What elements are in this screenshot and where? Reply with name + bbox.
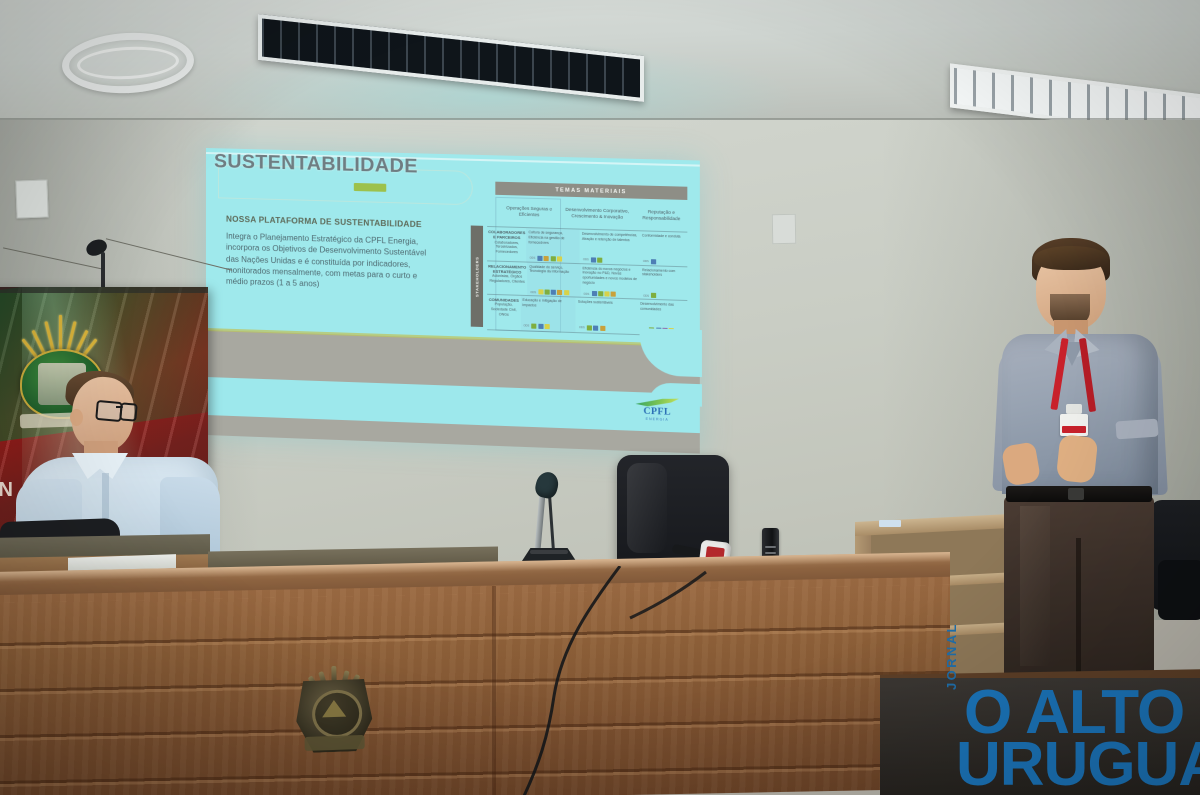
ods-chips: ODS — [583, 257, 603, 263]
newspaper-watermark: JORNAL O ALTO URUGUAI — [938, 684, 1200, 795]
ods-chip-icon — [532, 323, 537, 328]
light-switch-plate[interactable] — [15, 179, 48, 218]
ods-chips: ODS — [643, 293, 656, 299]
ods-chip-label: ODS — [583, 258, 589, 262]
matrix-grid: COLABORADORES E PARCEIROS Colaboradores,… — [487, 226, 687, 335]
ods-chip-icon — [550, 256, 555, 261]
ods-chip-icon — [557, 256, 562, 261]
matrix-cell-text: Desenvolvimento de competências, Atração… — [582, 232, 637, 242]
slide-body-text: Integra o Planejamento Estratégico da CP… — [226, 231, 436, 294]
matrix-row-label: RELACIONAMENTO ESTRATÉGICO Acionistas, Ó… — [487, 261, 527, 296]
matrix-cell-text: Cultura de segurança, Eficiência na gest… — [528, 230, 564, 244]
matrix-cell-text: Conformidade e conduta — [642, 233, 681, 238]
matrix-cell: Eficiência do novos negócios e inovação … — [580, 264, 640, 300]
watermark-kicker: JORNAL — [944, 630, 964, 690]
ods-chip-icon — [587, 325, 592, 330]
ods-chip-icon — [592, 291, 597, 296]
photo-scene: SUSTENTABILIDADE NOSSA PLATAFORMA DE SUS… — [0, 0, 1200, 795]
matrix-cell: Relacionamento com stakeholders ODS — [640, 266, 687, 302]
matrix-row-label: COMUNIDADES População, Sociedade Civil, … — [487, 295, 520, 330]
matrix-column-header-3: Reputação e Responsabilidade — [631, 201, 691, 231]
left-hand — [1001, 441, 1041, 486]
matrix-cell: Conformidade e conduta ODS — [640, 231, 687, 267]
ods-chip-icon — [544, 324, 549, 329]
ods-chip-icon — [593, 325, 598, 330]
ods-chip-label: ODS — [643, 260, 649, 264]
matrix-cell-text: Educação e mitigação de impactos — [523, 298, 562, 307]
ods-chip-icon — [551, 290, 556, 295]
ods-chip-icon — [651, 259, 656, 264]
ods-chip-icon — [564, 290, 569, 295]
table-microphone-icon — [520, 472, 578, 572]
ods-chip-icon — [557, 290, 562, 295]
ods-chip-label: ODS — [529, 257, 535, 261]
right-hand — [1056, 434, 1099, 484]
ods-chip-icon — [591, 257, 596, 262]
ods-chip-label: ODS — [524, 324, 530, 328]
projected-slide: SUSTENTABILIDADE NOSSA PLATAFORMA DE SUS… — [206, 148, 700, 454]
title-accent-bar — [354, 183, 386, 192]
matrix-cell: Qualidade do serviço, Tecnologia da info… — [527, 262, 580, 298]
ods-chip-icon — [544, 256, 549, 261]
matrix-side-label: STAKEHOLDERS — [471, 225, 483, 327]
matrix-side-label-text: STAKEHOLDERS — [474, 256, 479, 297]
matrix-row-label-sub: Acionistas, Órgãos Reguladores, Clientes — [490, 274, 525, 284]
matrix-cell-text: Relacionamento com stakeholders — [642, 268, 675, 278]
eyeglasses-icon — [95, 400, 123, 422]
matrix-row-label-sub: Colaboradores, Terceirizados, Fornecedor… — [494, 240, 519, 254]
ods-chip-icon — [538, 324, 543, 329]
ods-chips: ODS — [529, 255, 561, 261]
matrix-row-label-sub: População, Sociedade Civil, ONGs — [491, 303, 517, 317]
matrix-cell: Soluções sustentáveis ODS — [576, 298, 638, 334]
ods-chip-icon — [651, 293, 656, 298]
watermark-line-2: URUGUAI — [956, 734, 1200, 795]
wall-plate-right[interactable] — [772, 214, 797, 244]
ods-chip-label: ODS — [643, 294, 649, 298]
ods-chip-icon — [545, 290, 550, 295]
id-badge — [1060, 414, 1088, 436]
ods-chips: ODS — [579, 325, 605, 331]
ods-chip-icon — [597, 257, 602, 262]
ods-chip-icon — [538, 289, 543, 294]
ods-chips: ODS — [583, 291, 615, 297]
materiality-matrix: TEMAS MATERIAIS Operações Seguras e Efic… — [456, 181, 687, 335]
ods-chips: ODS — [524, 323, 550, 329]
ods-chip-icon — [600, 326, 605, 331]
matrix-cell-text: Eficiência do novos negócios e inovação … — [582, 266, 637, 285]
ods-chip-icon — [604, 292, 609, 297]
ods-chip-label: ODS — [530, 291, 536, 295]
matrix-cell: Desenvolvimento de competências, Atração… — [580, 230, 640, 266]
ods-chip-icon — [611, 292, 616, 297]
ods-chip-label: ODS — [579, 326, 585, 330]
ods-chips: ODS — [643, 258, 656, 263]
matrix-cell: Educação e mitigação de impactos ODS — [520, 296, 575, 332]
microphone-cable — [470, 566, 710, 795]
matrix-cell-text: Qualidade do serviço, Tecnologia da info… — [529, 264, 569, 274]
ods-chip-icon — [598, 291, 603, 296]
matrix-cell: Cultura de segurança, Eficiência na gest… — [526, 228, 579, 264]
cpfl-logo: CPFL ENERGIA — [629, 397, 685, 426]
ods-chip-label: ODS — [583, 292, 589, 296]
matrix-column-header-2: Desenvolvimento Corporativo, Crescimento… — [559, 199, 635, 230]
standing-speaker — [980, 238, 1180, 678]
ods-chip-icon — [538, 255, 543, 260]
matrix-cell-text: Soluções sustentáveis — [578, 300, 613, 305]
matrix-cell-text: Desenvolvimento das comunidades — [640, 302, 674, 312]
brass-coat-of-arms-emblem — [287, 648, 381, 763]
cpfl-logo-tagline: ENERGIA — [629, 416, 685, 422]
matrix-row-label: COLABORADORES E PARCEIROS Colaboradores,… — [487, 227, 526, 262]
